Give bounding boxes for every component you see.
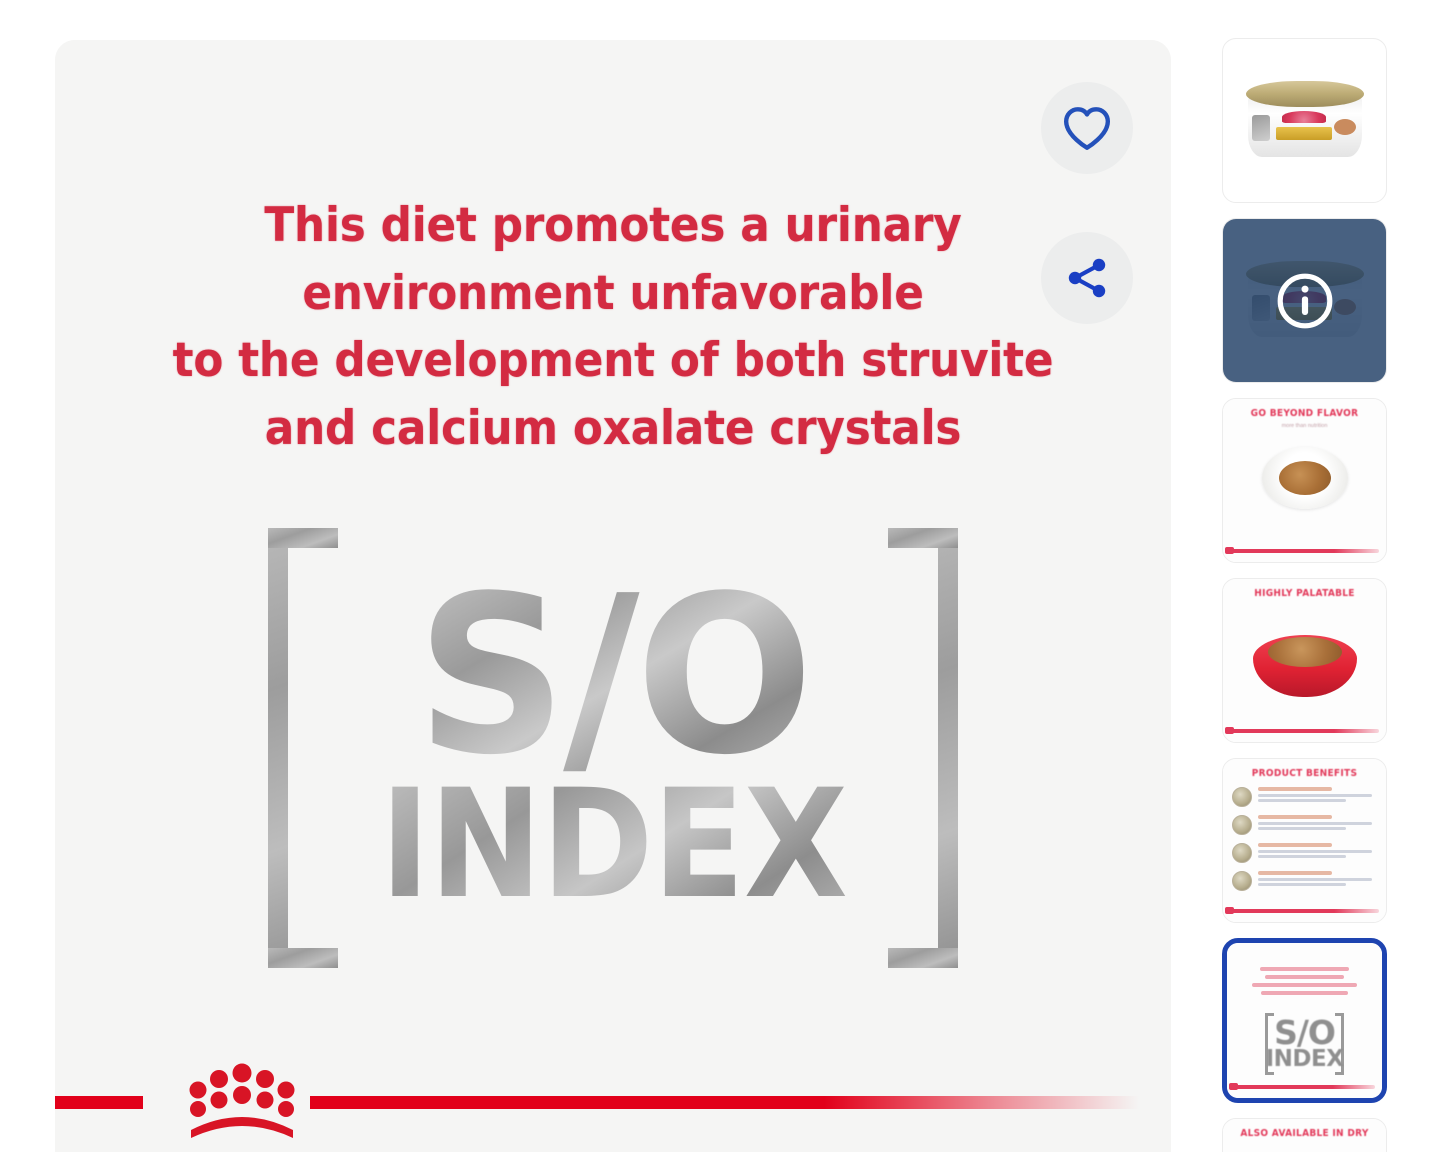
thumbnail-image: GO BEYOND FLAVOR more than nutrition: [1223, 399, 1386, 562]
thumbnail-title: HIGHLY PALATABLE: [1236, 588, 1374, 599]
thumbnail-so-index[interactable]: S/O INDEX: [1222, 938, 1387, 1103]
thumbnail-product-can-front[interactable]: [1222, 38, 1387, 203]
headline-line-2: environment unfavorable: [94, 260, 1132, 328]
list-item: [1232, 815, 1377, 835]
thumbnail-image: HIGHLY PALATABLE: [1223, 579, 1386, 742]
thumbnail-image: [1223, 39, 1386, 202]
benefit-icon: [1232, 871, 1252, 891]
list-item: [1232, 787, 1377, 807]
so-index-logo-small: S/O INDEX: [1266, 1017, 1344, 1071]
bracket-left-icon: [268, 528, 338, 968]
so-index-logo-line-2: INDEX: [1266, 1048, 1344, 1071]
brand-rule-left: [55, 1096, 143, 1109]
thumbnail-go-beyond-flavor[interactable]: GO BEYOND FLAVOR more than nutrition: [1222, 398, 1387, 563]
favorite-button[interactable]: [1041, 82, 1133, 174]
so-index-logo: S/O INDEX: [268, 528, 958, 968]
thumbnail-highly-palatable[interactable]: HIGHLY PALATABLE: [1222, 578, 1387, 743]
brand-footer-bar: [55, 1054, 1171, 1138]
royal-canin-crown-icon: [181, 1060, 303, 1138]
thumbnail-image: PRODUCT BENEFITS: [1223, 759, 1386, 922]
benefit-list: [1232, 787, 1377, 899]
thumbnail-title: GO BEYOND FLAVOR: [1236, 408, 1374, 419]
thumbnail-rail[interactable]: GO BEYOND FLAVOR more than nutrition HIG…: [1222, 38, 1392, 1152]
thumbnail-title: ALSO AVAILABLE IN DRY: [1236, 1128, 1374, 1139]
thumbnail-product-benefits[interactable]: PRODUCT BENEFITS: [1222, 758, 1387, 923]
share-icon: [1063, 254, 1111, 302]
info-overlay[interactable]: [1223, 219, 1386, 382]
thumbnail-title: PRODUCT BENEFITS: [1236, 768, 1374, 779]
thumbnail-also-available-in-dry[interactable]: ALSO AVAILABLE IN DRY: [1222, 1118, 1387, 1152]
product-gallery-page: This diet promotes a urinary environment…: [0, 0, 1440, 1152]
thumbnail-brand-rule: [1230, 729, 1379, 733]
thumbnail-image: ALSO AVAILABLE IN DRY: [1223, 1119, 1386, 1152]
headline-line-3: to the development of both struvite: [94, 327, 1132, 395]
info-icon: [1274, 270, 1336, 332]
thumbnail-brand-rule: [1230, 909, 1379, 913]
thumbnail-image: S/O INDEX: [1227, 943, 1382, 1098]
list-item: [1232, 843, 1377, 863]
thumbnail-brand-rule: [1234, 1085, 1375, 1089]
benefit-icon: [1232, 815, 1252, 835]
so-index-logo-line-1: S/O: [416, 577, 810, 778]
benefit-icon: [1232, 843, 1252, 863]
red-food-bowl-icon: [1253, 635, 1357, 697]
headline-line-1: This diet promotes a urinary: [94, 192, 1132, 260]
so-index-logo-line-1: S/O: [1266, 1017, 1344, 1048]
benefit-icon: [1232, 787, 1252, 807]
thumbnail-subtitle: more than nutrition: [1232, 423, 1377, 429]
bracket-right-icon: [888, 528, 958, 968]
slide-so-index: This diet promotes a urinary environment…: [55, 40, 1171, 1152]
list-item: [1232, 871, 1377, 891]
main-image-viewer[interactable]: This diet promotes a urinary environment…: [55, 40, 1171, 1152]
share-button[interactable]: [1041, 232, 1133, 324]
thumbnail-brand-rule: [1230, 549, 1379, 553]
slide-headline: This diet promotes a urinary environment…: [94, 192, 1132, 463]
food-plate-icon: [1262, 447, 1348, 509]
headline-line-4: and calcium oxalate crystals: [94, 395, 1132, 463]
thumbnail-product-information[interactable]: [1222, 218, 1387, 383]
so-index-logo-text: S/O INDEX: [340, 528, 886, 968]
heart-icon: [1062, 105, 1112, 151]
brand-rule-right: [310, 1096, 1139, 1109]
so-index-logo-line-2: INDEX: [379, 772, 846, 919]
cat-food-can-icon: [1246, 81, 1364, 161]
